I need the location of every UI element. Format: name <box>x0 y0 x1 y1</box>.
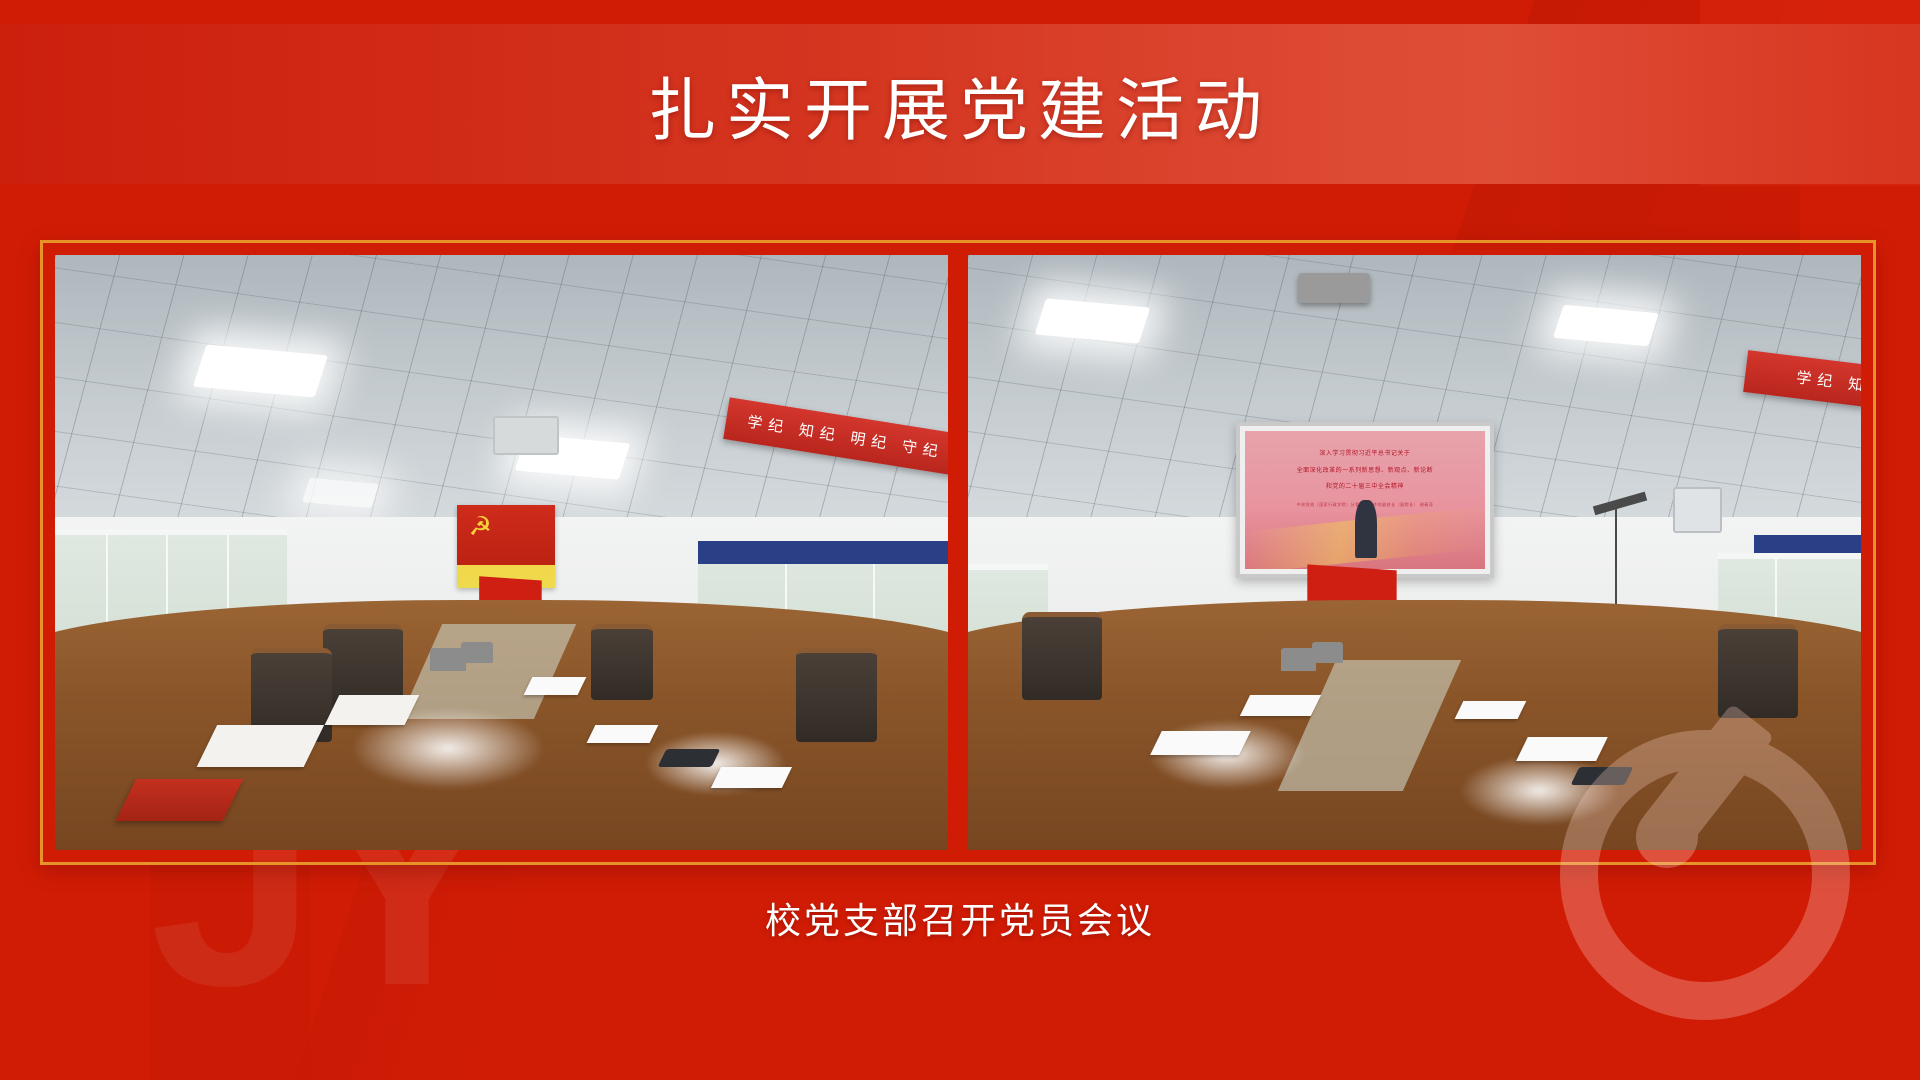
microphone <box>461 642 492 663</box>
table-reflection-2 <box>1459 755 1620 826</box>
notebook <box>1516 737 1608 761</box>
wall-info-strip <box>698 541 948 565</box>
study-document <box>325 695 420 725</box>
projection-title-line-3: 和党的二十届三中全会精神 <box>1245 483 1485 492</box>
notebook <box>1150 731 1251 755</box>
photo-caption: 校党支部召开党员会议 <box>0 892 1920 944</box>
photo-frame: 学纪 知纪 明纪 守纪 ☭ <box>40 240 1876 865</box>
projection-title-line-2: 全面深化改革的一系列新思想、新观点、新论断 <box>1245 467 1485 476</box>
wall-control-panel <box>1673 487 1722 533</box>
ceiling-grid <box>55 255 948 541</box>
photo-left[interactable]: 学纪 知纪 明纪 守纪 ☭ <box>55 255 948 850</box>
smartphone <box>658 749 720 767</box>
photo-right[interactable]: 深入学习贯彻习近平总书记关于 全面深化改革的一系列新思想、新观点、新论断 和党的… <box>968 255 1861 850</box>
party-poster: ☭ <box>457 505 555 588</box>
chair <box>796 648 876 742</box>
ceiling-projector-mount <box>1298 273 1369 303</box>
projection-image: 深入学习贯彻习近平总书记关于 全面深化改革的一系列新思想、新观点、新论断 和党的… <box>1245 431 1485 570</box>
ceiling <box>55 255 948 541</box>
ceiling-ac-vent <box>493 416 560 456</box>
chair <box>591 624 654 700</box>
notebook <box>711 767 793 788</box>
party-constitution-book <box>116 779 243 821</box>
page-title: 扎实开展党建活动 <box>0 24 1920 184</box>
notebook <box>586 725 657 743</box>
projector-screen: 深入学习贯彻习近平总书记关于 全面深化改革的一系列新思想、新观点、新论断 和党的… <box>1236 422 1494 579</box>
party-emblem-icon: ☭ <box>469 513 492 539</box>
projection-speaker-figure <box>1355 500 1377 558</box>
smartphone <box>1571 767 1633 785</box>
microphone <box>1312 642 1343 663</box>
notebook <box>1455 701 1526 719</box>
projection-title-line-1: 深入学习贯彻习近平总书记关于 <box>1245 450 1485 459</box>
notebook <box>1240 695 1322 716</box>
chair <box>1718 624 1798 718</box>
notebook <box>524 677 586 695</box>
microphone <box>1281 648 1317 672</box>
study-document <box>197 725 324 767</box>
chair <box>1022 612 1102 700</box>
